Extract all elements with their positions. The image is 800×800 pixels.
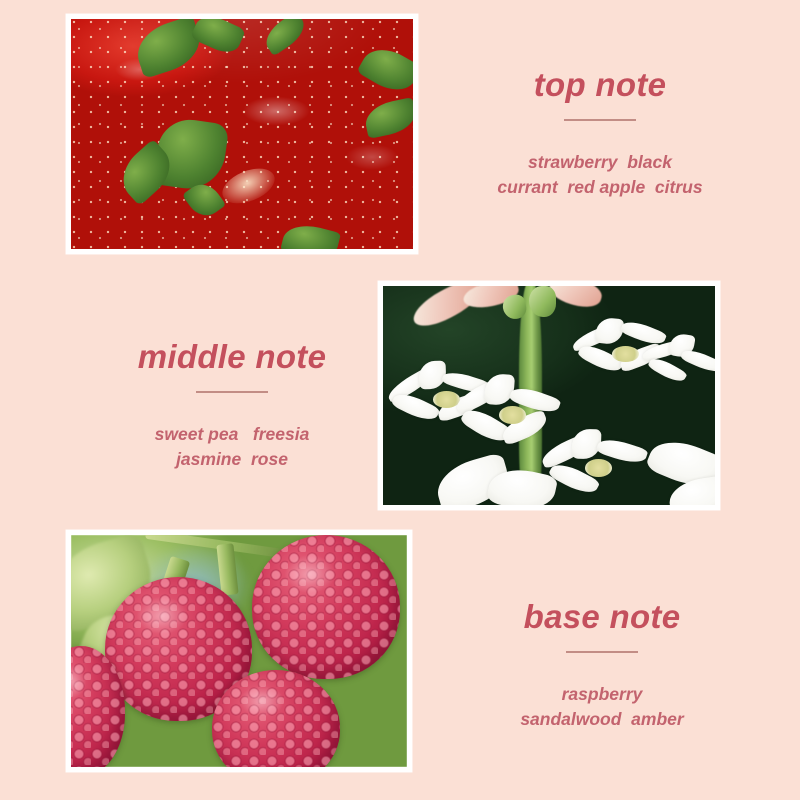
raspberry [71, 646, 125, 767]
strawberries-photo [71, 19, 413, 249]
base-note-title: base note [452, 600, 752, 635]
fragrance-notes-page: top note strawberry black currant red ap… [0, 0, 800, 800]
tuberose-photo-frame [378, 281, 720, 510]
middle-note-ingredients: sweet pea freesia jasmine rose [112, 422, 352, 473]
top-note-ingredients: strawberry black currant red apple citru… [440, 150, 760, 201]
middle-note-divider [196, 391, 268, 393]
raspberries-photo-frame [66, 530, 412, 772]
raspberries-photo [71, 535, 407, 767]
base-note-block: base note raspberry sandalwood amber [452, 600, 752, 732]
middle-note-title: middle note [112, 340, 352, 375]
base-note-ingredient-line: raspberry [452, 682, 752, 707]
petal [484, 373, 515, 406]
berry-highlight [285, 555, 335, 592]
top-note-title: top note [440, 68, 760, 103]
flower-center [585, 459, 612, 477]
strawberry-seeds [71, 19, 413, 249]
middle-note-ingredient-line: sweet pea freesia [112, 422, 352, 447]
top-note-ingredient-line: currant red apple citrus [440, 175, 760, 200]
base-note-divider [566, 651, 638, 653]
raspberry [252, 535, 400, 679]
middle-note-ingredient-line: jasmine rose [112, 447, 352, 472]
base-note-ingredients: raspberry sandalwood amber [452, 682, 752, 733]
top-note-ingredient-line: strawberry black [440, 150, 760, 175]
drupelet-texture [71, 646, 125, 767]
flower-center [499, 406, 526, 424]
top-note-block: top note strawberry black currant red ap… [440, 68, 760, 200]
tuberose-floret [542, 431, 655, 505]
middle-note-block: middle note sweet pea freesia jasmine ro… [112, 340, 352, 472]
base-note-ingredient-line: sandalwood amber [452, 707, 752, 732]
petal [595, 317, 625, 346]
flower-center [612, 346, 639, 362]
top-note-divider [564, 119, 636, 121]
tuberose-floret [642, 334, 715, 391]
strawberries-photo-frame [66, 14, 418, 254]
tuberose-photo [383, 286, 715, 505]
flower-bud [529, 286, 556, 317]
petal [390, 389, 441, 426]
drupelet-texture [252, 535, 400, 679]
berry-highlight [240, 686, 283, 716]
petal [680, 345, 715, 375]
raspberry [212, 670, 340, 767]
drupelet-texture [212, 670, 340, 767]
